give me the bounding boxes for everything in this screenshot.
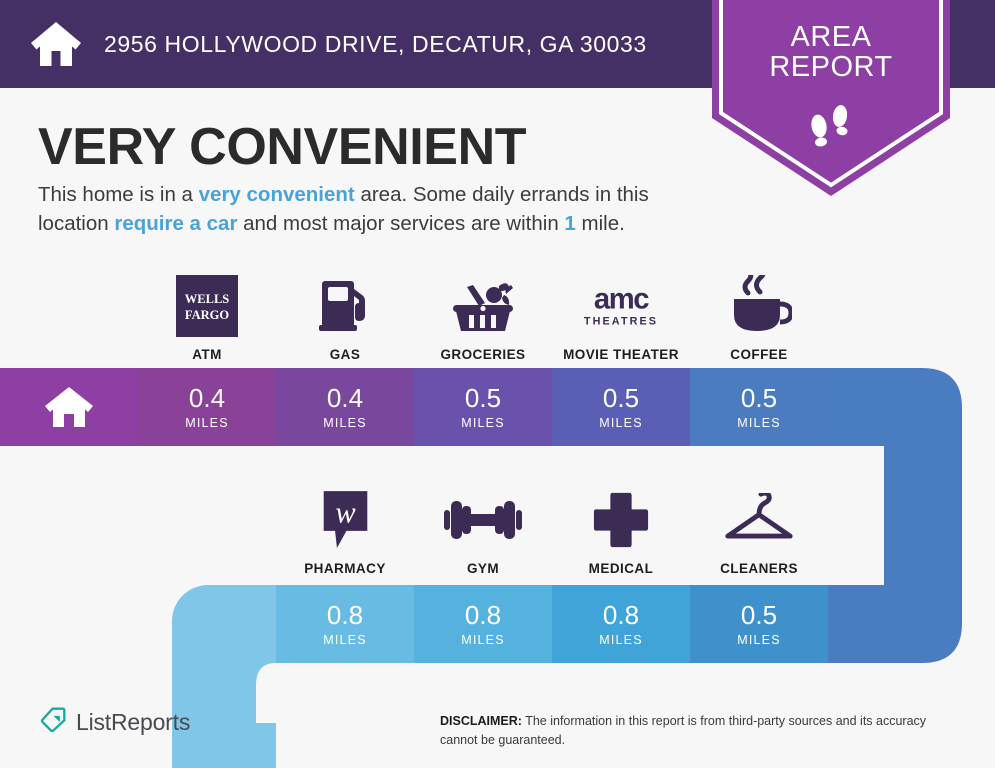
distance-cell-groceries: 0.5 MILES (414, 368, 552, 446)
amenity-label: COFFEE (730, 347, 787, 362)
svg-text:WELLS: WELLS (185, 292, 230, 306)
distance-cell-gas: 0.4 MILES (276, 368, 414, 446)
badge-line-1: AREA (712, 22, 950, 52)
coffee-cup-icon (726, 272, 792, 340)
distance-unit: MILES (461, 416, 505, 430)
amenity-gas: GAS (276, 262, 414, 362)
distance-value: 0.8 (465, 602, 501, 628)
subtitle-part-1: This home is in a (38, 183, 199, 206)
distance-cell-pharmacy: 0.8 MILES (276, 585, 414, 663)
distance-value: 0.5 (741, 385, 777, 411)
disclaimer-text: DISCLAIMER: The information in this repo… (440, 712, 960, 750)
distance-value: 0.8 (327, 602, 363, 628)
amenity-coffee: COFFEE (690, 262, 828, 362)
amenity-label: GAS (330, 347, 361, 362)
wells-fargo-logo-icon: WELLS FARGO (176, 272, 238, 340)
amc-theatres-logo-icon: amc THEATRES (569, 272, 673, 340)
distance-value: 0.8 (603, 602, 639, 628)
amenity-movie-theater: amc THEATRES MOVIE THEATER (552, 262, 690, 362)
ribbon-right-turn (828, 368, 962, 663)
distance-unit: MILES (323, 416, 367, 430)
amenity-icon-row-1: WELLS FARGO ATM GAS (0, 262, 995, 362)
distance-value: 0.5 (603, 385, 639, 411)
listreports-tag-icon (40, 706, 67, 738)
distance-cell-gym: 0.8 MILES (414, 585, 552, 663)
distance-value: 0.5 (465, 385, 501, 411)
subtitle-highlight-2: require a car (114, 212, 237, 235)
amenity-atm: WELLS FARGO ATM (138, 262, 276, 362)
page-title: VERY CONVENIENT (38, 117, 526, 177)
amenity-label: ATM (192, 347, 222, 362)
ribbon-row2-lead (172, 585, 276, 663)
amenity-groceries: GROCERIES (414, 262, 552, 362)
area-report-badge: AREA REPORT (712, 0, 950, 196)
distance-unit: MILES (599, 633, 643, 647)
distance-cell-atm: 0.4 MILES (138, 368, 276, 446)
footprints-icon (807, 104, 855, 150)
distance-cell-movie-theater: 0.5 MILES (552, 368, 690, 446)
disclaimer-label: DISCLAIMER: (440, 714, 522, 728)
subtitle-part-3: and most major services are within (237, 212, 564, 235)
svg-text:THEATRES: THEATRES (584, 315, 658, 327)
distance-value: 0.4 (189, 385, 225, 411)
subtitle-part-4: mile. (576, 212, 625, 235)
house-icon (30, 20, 82, 68)
grocery-basket-icon (449, 272, 517, 340)
distance-cell-medical: 0.8 MILES (552, 585, 690, 663)
subtitle-highlight-1: very convenient (199, 183, 355, 206)
house-icon (44, 385, 94, 429)
distance-unit: MILES (185, 416, 229, 430)
subtitle-highlight-3: 1 (564, 212, 575, 235)
distance-unit: MILES (461, 633, 505, 647)
listreports-logo[interactable]: ListReports (40, 706, 190, 738)
svg-text:amc: amc (594, 283, 649, 315)
distance-cell-coffee: 0.5 MILES (690, 368, 828, 446)
distance-value: 0.5 (741, 602, 777, 628)
gas-pump-icon (314, 272, 376, 340)
listreports-wordmark: ListReports (76, 709, 190, 736)
ribbon-card-corner (256, 663, 316, 723)
badge-line-2: REPORT (712, 52, 950, 82)
property-address: 2956 HOLLYWOOD DRIVE, DECATUR, GA 30033 (104, 31, 647, 58)
distance-cell-cleaners: 0.5 MILES (690, 585, 828, 663)
amenity-label: MOVIE THEATER (563, 347, 679, 362)
ribbon-home-cell (0, 368, 138, 446)
distance-unit: MILES (599, 416, 643, 430)
distance-unit: MILES (737, 416, 781, 430)
distance-value: 0.4 (327, 385, 363, 411)
svg-text:FARGO: FARGO (185, 308, 229, 322)
distance-unit: MILES (323, 633, 367, 647)
distance-unit: MILES (737, 633, 781, 647)
badge-title: AREA REPORT (712, 22, 950, 83)
page-subtitle: This home is in a very convenient area. … (38, 180, 710, 238)
amenity-label: GROCERIES (440, 347, 525, 362)
